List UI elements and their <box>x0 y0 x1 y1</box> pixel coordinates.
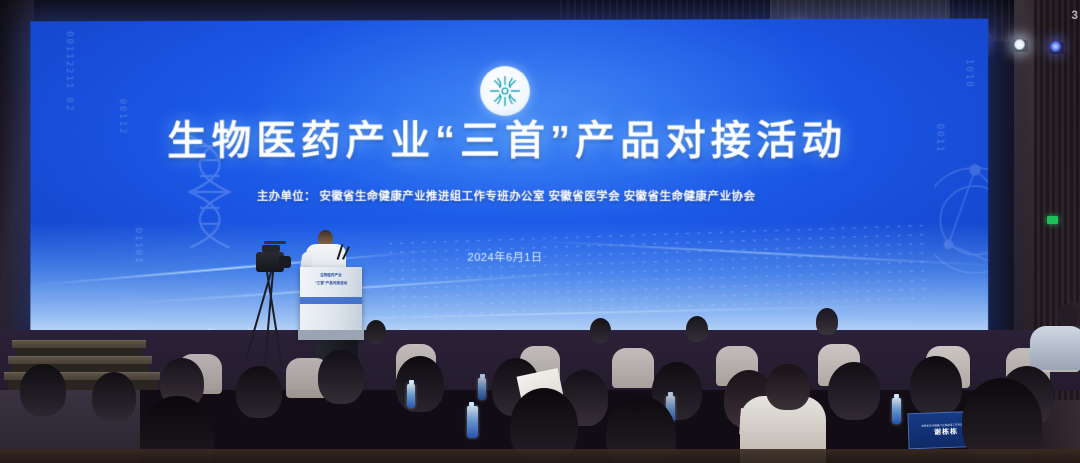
camera-hood <box>262 245 280 252</box>
decor-digits: 00112211 02 <box>64 31 73 112</box>
event-date: 2024年6月1日 <box>30 248 988 265</box>
audience-head <box>20 364 66 416</box>
camera-lens <box>279 256 291 268</box>
audience-torso <box>1030 326 1080 370</box>
audience-head <box>236 366 282 418</box>
conference-chair <box>612 348 654 388</box>
camera-handle <box>264 241 286 244</box>
placard-name: 谢栋栋 <box>934 426 958 437</box>
audience-head <box>910 356 962 416</box>
event-organizers: 主办单位： 安徽省生命健康产业推进组工作专班办公室 安徽省医学会 安徽省生命健康… <box>30 188 988 204</box>
audience-head <box>590 318 611 343</box>
audience-head <box>1058 304 1078 328</box>
water-bottle <box>467 406 478 438</box>
exit-indicator-light <box>1047 216 1058 224</box>
podium-banner-line1: 生物医药产业 <box>306 273 356 278</box>
audience-head <box>318 350 364 404</box>
audience-head <box>366 320 386 344</box>
decor-digits: 1010 <box>964 59 973 89</box>
audience-head-foreground <box>766 364 810 410</box>
stage-light <box>1049 40 1062 53</box>
podium-banner-line2: “三首”产品对接活动 <box>306 281 356 286</box>
conference-hall-scene: 00112211 02 00112 01101 0011 1010 生物医药产业… <box>0 0 1080 463</box>
audience-head <box>816 308 838 335</box>
audience-seating: 安徽省生命健康产业推进组工作专班办公室 谢栋栋 <box>0 300 1080 463</box>
audience-head <box>396 356 444 412</box>
stage-light <box>1013 38 1026 51</box>
event-title: 生物医药产业“三首”产品对接活动 <box>30 107 988 166</box>
led-stage-screen: 00112211 02 00112 01101 0011 1010 生物医药产业… <box>30 19 988 344</box>
water-bottle <box>478 378 486 400</box>
audience-head <box>686 316 708 342</box>
water-bottle <box>407 384 415 408</box>
audience-head <box>828 362 880 420</box>
audience-table-edge <box>0 449 1080 463</box>
audience-head <box>92 372 136 422</box>
corner-marker: 3 <box>1071 8 1078 22</box>
water-bottle <box>892 398 901 424</box>
